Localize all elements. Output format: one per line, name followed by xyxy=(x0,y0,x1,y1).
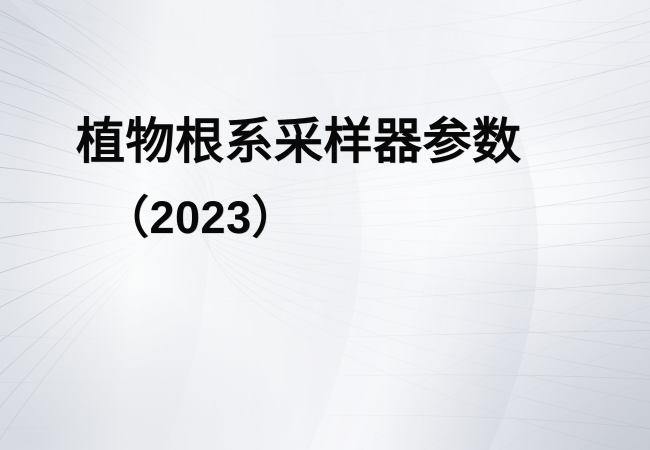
title-slide: 植物根系采样器参数 （2023） xyxy=(0,0,650,450)
slide-title-year: （2023） xyxy=(0,195,650,240)
slide-title-primary: 植物根系采样器参数 xyxy=(0,118,650,167)
slide-title-block: 植物根系采样器参数 （2023） xyxy=(0,118,650,240)
